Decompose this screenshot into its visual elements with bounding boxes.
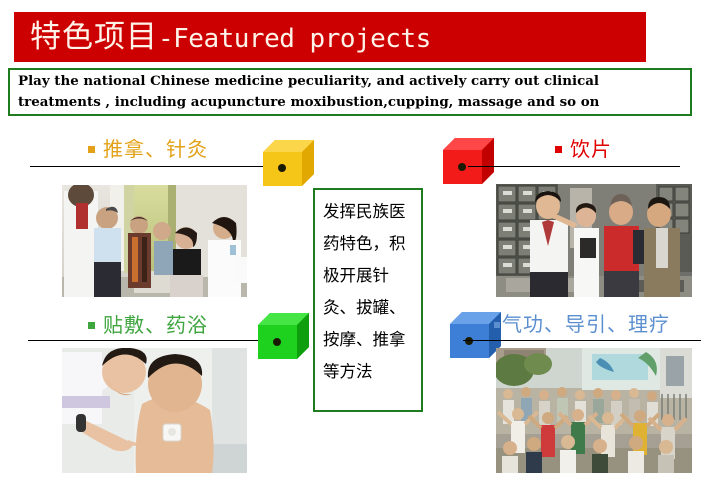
square-bullet-icon bbox=[555, 146, 562, 153]
quadrant-label-plaster-medicated-bath: 贴敷、药浴 bbox=[88, 315, 208, 335]
quadrant-label-text: 饮片 bbox=[570, 139, 612, 159]
center-note-box: 发挥民族医药特色，积极开展针灸、拔罐、按摩、推拿等方法 bbox=[313, 188, 423, 412]
cube-dot-icon bbox=[465, 337, 473, 345]
photo-clinic-consultation bbox=[62, 185, 247, 297]
cube-shape-yellow bbox=[263, 140, 315, 198]
page-title-chinese: 特色项目 bbox=[30, 19, 158, 55]
photo-outdoor-qigong-group bbox=[496, 348, 692, 473]
cube-marker-plaster-medicated-bath bbox=[258, 313, 310, 369]
quadrant-label-qigong-daoyin-physiotherapy: 气功、导引、理疗 bbox=[494, 314, 670, 334]
subtitle-line-2: treatments , including acupuncture moxib… bbox=[18, 92, 682, 113]
photo-plaster-application-image bbox=[62, 348, 247, 473]
quadrant-label-text: 推拿、针灸 bbox=[103, 139, 208, 159]
divider-line-top-left bbox=[30, 166, 280, 167]
quadrant-label-herbal-slices: 饮片 bbox=[555, 139, 612, 159]
subtitle-box: Play the national Chinese medicine pecul… bbox=[8, 68, 692, 116]
page-title-english: Featured projects bbox=[173, 24, 431, 54]
quadrant-label-text: 贴敷、药浴 bbox=[103, 315, 208, 335]
square-bullet-icon bbox=[88, 146, 95, 153]
square-bullet-icon bbox=[88, 322, 95, 329]
divider-line-top-right bbox=[468, 166, 680, 167]
cube-marker-tuina-acupuncture bbox=[263, 140, 315, 196]
slide-title-bar: 特色项目-Featured projects bbox=[14, 12, 646, 62]
cube-dot-icon bbox=[278, 164, 286, 172]
photo-plaster-application bbox=[62, 348, 247, 473]
photo-herbal-pharmacy bbox=[496, 184, 692, 297]
page-title: 特色项目-Featured projects bbox=[14, 22, 431, 53]
photo-outdoor-qigong-group-image bbox=[496, 348, 692, 473]
subtitle-line-1: Play the national Chinese medicine pecul… bbox=[18, 71, 682, 92]
photo-herbal-pharmacy-image bbox=[496, 184, 692, 297]
divider-line-bottom-right bbox=[463, 340, 701, 341]
quadrant-label-tuina-acupuncture: 推拿、针灸 bbox=[88, 139, 208, 159]
center-note-text: 发挥民族医药特色，积极开展针灸、拔罐、按摩、推拿等方法 bbox=[323, 196, 413, 388]
quadrant-label-text: 气功、导引、理疗 bbox=[502, 314, 670, 334]
page-title-dash: - bbox=[158, 24, 173, 54]
cube-dot-icon bbox=[458, 163, 466, 171]
photo-clinic-consultation-image bbox=[62, 185, 247, 297]
cube-shape-green bbox=[258, 313, 310, 371]
cube-dot-icon bbox=[273, 338, 281, 346]
square-bullet-icon bbox=[494, 322, 500, 328]
cube-shape-red bbox=[443, 138, 495, 196]
divider-line-bottom-left bbox=[28, 340, 280, 341]
